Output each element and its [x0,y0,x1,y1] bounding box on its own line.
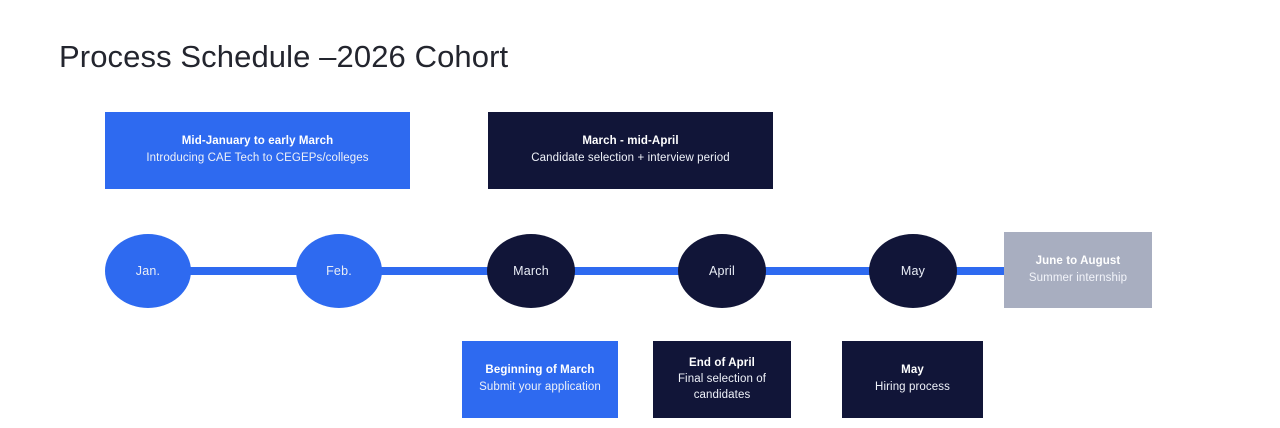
event-card-title: Mid-January to early March [182,134,334,150]
event-card-mid-january-to-early-march[interactable]: Mid-January to early March Introducing C… [105,112,410,189]
event-card-subtitle: Final selection of candidates [663,372,781,403]
event-card-title: March - mid-April [582,134,678,150]
event-card-subtitle: Hiring process [875,380,950,396]
event-card-title: May [901,363,924,379]
event-card-title: End of April [689,356,755,372]
timeline-node-label: May [901,264,925,278]
timeline-node-label: March [513,264,549,278]
event-card-title: June to August [1036,254,1121,270]
timeline-node-jan[interactable]: Jan. [105,234,191,308]
timeline-node-feb[interactable]: Feb. [296,234,382,308]
event-card-june-to-august[interactable]: June to August Summer internship [1004,232,1152,308]
timeline-node-april[interactable]: April [678,234,766,308]
event-card-subtitle: Candidate selection + interview period [531,151,729,167]
timeline-node-may[interactable]: May [869,234,957,308]
timeline-node-label: Jan. [136,264,160,278]
timeline-node-label: Feb. [326,264,352,278]
event-card-subtitle: Submit your application [479,380,601,396]
timeline-node-march[interactable]: March [487,234,575,308]
event-card-march-mid-april[interactable]: March - mid-April Candidate selection + … [488,112,773,189]
event-card-beginning-of-march[interactable]: Beginning of March Submit your applicati… [462,341,618,418]
event-card-title: Beginning of March [485,363,594,379]
event-card-end-of-april[interactable]: End of April Final selection of candidat… [653,341,791,418]
event-card-may-hiring[interactable]: May Hiring process [842,341,983,418]
event-card-subtitle: Summer internship [1029,271,1127,287]
timeline-track-may-end [952,267,1012,275]
event-card-subtitle: Introducing CAE Tech to CEGEPs/colleges [146,151,368,167]
timeline-diagram: Jan. Feb. March April May Mid-January to… [0,0,1280,428]
timeline-node-label: April [709,264,735,278]
